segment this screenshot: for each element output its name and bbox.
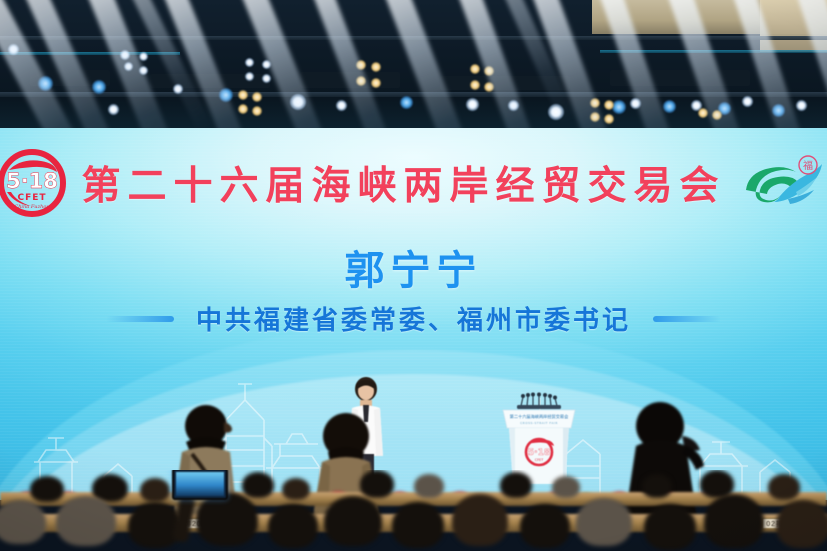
event-main-title: 第二十六届海峡两岸经贸交易会 — [81, 155, 725, 211]
audience-head — [552, 476, 580, 498]
audience-head — [268, 504, 318, 548]
cross-strait-brush-logo-icon: 福 — [740, 152, 826, 214]
audience-head — [644, 504, 696, 550]
speaker-position: 中共福建省委常委、福州市委书记 — [196, 300, 631, 337]
audience-head — [282, 478, 310, 500]
svg-text:CFET: CFET — [18, 193, 47, 203]
svg-text:CROSS-STRAIT FAIR: CROSS-STRAIT FAIR — [520, 421, 558, 425]
headline-row: 5·18 CFET China Fuzhou 第二十六届海峡两岸经贸交易会 福 — [0, 146, 827, 220]
audience-head — [500, 472, 532, 498]
light-beam-15 — [111, 0, 213, 133]
audience-head — [360, 470, 394, 498]
phone-display — [176, 472, 224, 496]
audience-head — [642, 474, 672, 498]
decorative-dash-right — [653, 316, 721, 322]
audience-head — [768, 474, 800, 500]
light-beam-16 — [481, 0, 577, 126]
audience-head — [196, 492, 258, 546]
svg-text:5·18: 5·18 — [7, 169, 59, 193]
svg-text:5·18: 5·18 — [528, 448, 550, 458]
svg-text:China Fuzhou: China Fuzhou — [15, 204, 50, 210]
svg-text:福: 福 — [803, 159, 813, 172]
audience-head — [414, 474, 444, 498]
audience-head — [392, 502, 444, 548]
audience-head — [56, 496, 116, 546]
audience-head — [452, 494, 508, 546]
conference-stage-scene: 5·18 CFET China Fuzhou 第二十六届海峡两岸经贸交易会 福 … — [0, 0, 827, 551]
smartphone-screen — [172, 470, 228, 500]
audience-head — [30, 476, 64, 502]
audience-head — [242, 472, 274, 498]
audience-head — [704, 494, 764, 548]
audience-head — [576, 498, 632, 546]
audience-head — [520, 504, 570, 548]
svg-text:第二十六届海峡两岸经贸交易会: 第二十六届海峡两岸经贸交易会 — [510, 413, 569, 420]
cfet-518-emblem-icon: 5·18 CFET China Fuzhou — [0, 148, 67, 218]
speaker-position-row: 中共福建省委常委、福州市委书记 — [0, 300, 827, 337]
audience-head — [324, 496, 382, 546]
audience-head — [140, 478, 170, 502]
decorative-dash-left — [106, 316, 174, 322]
audience-head — [776, 500, 827, 548]
audience-area: 02排20座 02排21座 — [0, 470, 827, 551]
speaker-name: 郭宁宁 — [0, 238, 827, 296]
svg-text:CFET: CFET — [535, 458, 544, 462]
audience-head — [0, 500, 46, 544]
